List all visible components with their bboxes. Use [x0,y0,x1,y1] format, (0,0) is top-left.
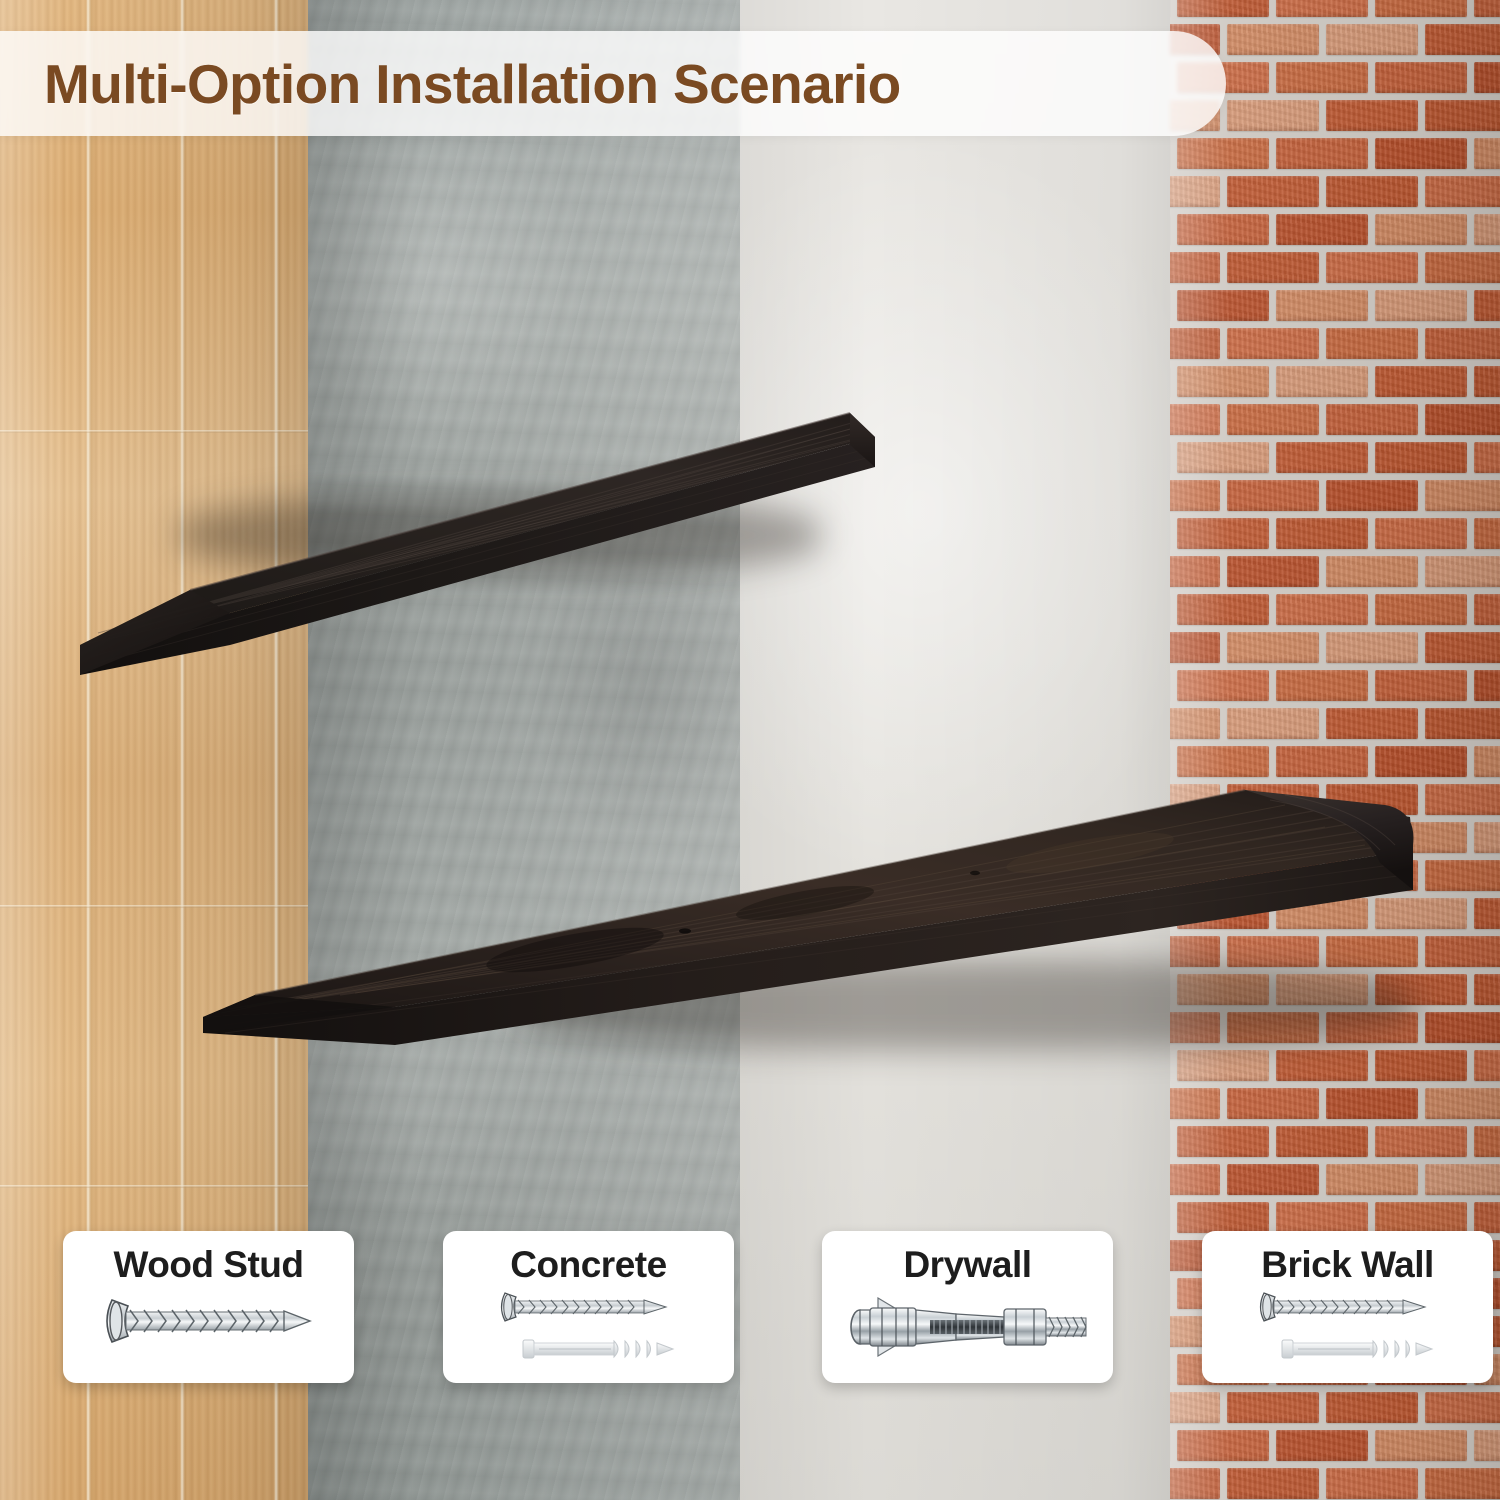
brick [1170,708,1220,739]
brick [1276,62,1368,93]
brick [1425,1468,1500,1499]
screw-icon [96,1290,322,1352]
brick [1227,100,1319,131]
brick [1326,1164,1418,1195]
brick [1474,1050,1500,1081]
hardware-group [489,1287,689,1369]
brick [1425,860,1500,891]
brick [1227,252,1319,283]
brick [1375,62,1467,93]
brick [1474,366,1500,397]
brick [1425,1088,1500,1119]
brick [1425,100,1500,131]
brick [1276,366,1368,397]
brick [1177,1126,1269,1157]
brick [1326,480,1418,511]
brick [1227,328,1319,359]
brick [1276,1430,1368,1461]
brick [1474,822,1500,853]
hardware-group [96,1290,322,1352]
brick [1170,556,1220,587]
brick [1425,252,1500,283]
brick [1474,138,1500,169]
brick [1425,176,1500,207]
brick [1170,252,1220,283]
option-card-brick-wall[interactable]: Brick Wall [1202,1231,1493,1383]
hardware-group [1248,1287,1448,1369]
brick [1170,1468,1220,1499]
brick [1326,556,1418,587]
molly-bolt-icon [844,1290,1092,1364]
product-infographic: Multi-Option Installation Scenario Wood … [0,0,1500,1500]
brick [1177,518,1269,549]
brick [1375,290,1467,321]
brick [1177,594,1269,625]
brick [1375,0,1467,17]
brick [1227,1164,1319,1195]
brick [1177,1430,1269,1461]
brick [1425,328,1500,359]
brick [1276,518,1368,549]
brick [1375,594,1467,625]
brick [1375,1202,1467,1233]
brick [1227,1468,1319,1499]
brick [1276,290,1368,321]
brick [1170,176,1220,207]
brick [1227,480,1319,511]
brick [1375,670,1467,701]
brick [1276,1202,1368,1233]
brick [1170,1392,1220,1423]
anchor-icon [519,1329,689,1369]
brick [1170,404,1220,435]
brick [1326,328,1418,359]
brick [1177,214,1269,245]
upper-shelf [60,345,880,675]
brick [1474,670,1500,701]
brick [1177,290,1269,321]
brick [1474,1202,1500,1233]
brick [1177,138,1269,169]
brick [1170,1164,1220,1195]
brick [1425,1164,1500,1195]
page-title: Multi-Option Installation Scenario [44,52,901,116]
option-card-drywall[interactable]: Drywall [822,1231,1113,1383]
brick [1276,214,1368,245]
brick [1276,442,1368,473]
brick [1227,176,1319,207]
brick [1425,1012,1500,1043]
brick [1276,670,1368,701]
option-card-title: Wood Stud [113,1244,303,1286]
brick [1375,518,1467,549]
title-banner: Multi-Option Installation Scenario [0,31,1226,136]
brick [1474,214,1500,245]
brick [1276,594,1368,625]
brick [1425,784,1500,815]
brick [1425,1392,1500,1423]
brick [1425,556,1500,587]
brick [1276,1126,1368,1157]
brick [1326,24,1418,55]
brick [1474,290,1500,321]
brick [1170,480,1220,511]
brick [1177,670,1269,701]
brick [1227,556,1319,587]
option-card-title: Concrete [510,1244,666,1286]
screw-icon [494,1287,684,1327]
brick [1227,24,1319,55]
brick [1227,1392,1319,1423]
brick [1425,708,1500,739]
brick [1227,404,1319,435]
brick [1227,708,1319,739]
brick [1177,0,1269,17]
brick [1474,1430,1500,1461]
brick [1425,24,1500,55]
brick [1375,1430,1467,1461]
lower-shelf [185,745,1420,1075]
brick [1375,214,1467,245]
brick [1474,442,1500,473]
brick [1474,62,1500,93]
screw-icon [1253,1287,1443,1327]
option-card-title: Brick Wall [1261,1244,1434,1286]
anchor-icon [1278,1329,1448,1369]
brick [1474,974,1500,1005]
brick [1326,176,1418,207]
brick [1170,632,1220,663]
brick [1375,366,1467,397]
brick [1375,1126,1467,1157]
brick [1170,1088,1220,1119]
brick [1425,404,1500,435]
brick [1177,1202,1269,1233]
hardware-group [844,1290,1092,1364]
brick [1170,328,1220,359]
brick [1177,366,1269,397]
brick [1474,898,1500,929]
brick [1276,0,1368,17]
brick [1326,632,1418,663]
brick [1326,404,1418,435]
brick [1375,138,1467,169]
brick [1177,442,1269,473]
brick [1326,1088,1418,1119]
brick [1276,138,1368,169]
brick [1227,632,1319,663]
brick [1474,518,1500,549]
brick [1474,594,1500,625]
brick [1474,1126,1500,1157]
option-card-title: Drywall [903,1244,1031,1286]
installation-options-row: Wood Stud [0,1231,1500,1386]
brick [1326,1392,1418,1423]
brick [1425,632,1500,663]
brick [1474,0,1500,17]
brick [1326,252,1418,283]
brick [1326,708,1418,739]
option-card-concrete[interactable]: Concrete [443,1231,734,1383]
option-card-wood-stud[interactable]: Wood Stud [63,1231,354,1383]
brick [1425,936,1500,967]
brick [1326,100,1418,131]
brick [1474,746,1500,777]
brick [1326,1468,1418,1499]
brick [1375,442,1467,473]
brick [1425,480,1500,511]
brick [1227,1088,1319,1119]
